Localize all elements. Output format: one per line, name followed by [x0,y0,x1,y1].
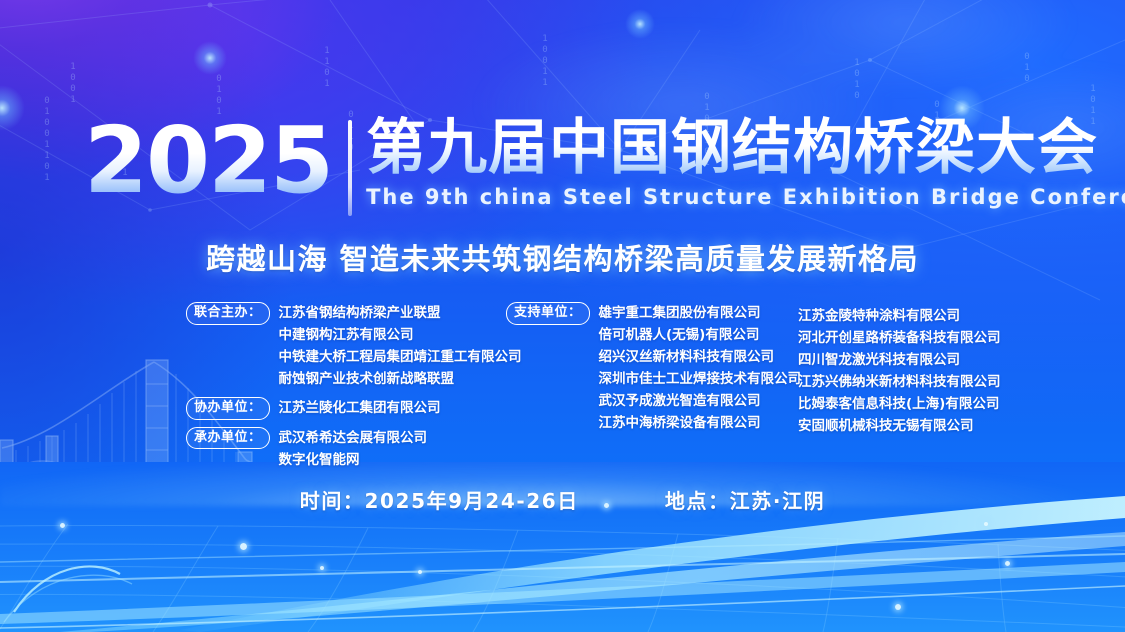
org-item: 数字化智能网 [279,449,428,471]
credits-column-middle: 支持单位： 雄宇重工集团股份有限公司 倍可机器人(无锡)有限公司 绍兴汉丝新材料… [506,302,798,441]
label-cohost: 联合主办： [186,302,270,325]
event-location: 地点：江苏·江阴 [665,485,825,514]
title-block: 第九届中国钢结构桥梁大会 The 9th china Steel Structu… [366,116,1125,209]
org-item: 江苏中海桥梁设备有限公司 [599,412,802,434]
org-item: 雄宇重工集团股份有限公司 [599,302,802,324]
title-row: 2025 第九届中国钢结构桥梁大会 The 9th china Steel St… [84,116,1125,216]
org-list-coorganizer: 江苏兰陵化工集团有限公司 [270,397,441,419]
label-undertaker: 承办单位： [186,427,270,450]
org-item: 江苏兰陵化工集团有限公司 [279,397,441,419]
org-item: 武汉希希达会展有限公司 [279,427,428,449]
title-chinese: 第九届中国钢结构桥梁大会 [366,116,1125,181]
org-item: 倍可机器人(无锡)有限公司 [599,324,802,346]
title-divider [348,120,352,216]
credits-section: 联合主办： 江苏省钢结构桥梁产业联盟 中建钢构江苏有限公司 中铁建大桥工程局集团… [186,302,1046,478]
org-item: 比姆泰客信息科技(上海)有限公司 [798,393,1028,415]
credit-group-cohost: 联合主办： 江苏省钢结构桥梁产业联盟 中建钢构江苏有限公司 中铁建大桥工程局集团… [186,302,506,390]
org-item: 中建钢构江苏有限公司 [279,324,522,346]
event-date: 时间：2025年9月24-26日 [300,485,579,514]
org-item: 耐蚀钢产业技术创新战略联盟 [279,368,522,390]
credits-column-right: 江苏金陵特种涂料有限公司 河北开创星路桥装备科技有限公司 四川智龙激光科技有限公… [798,302,1028,437]
credit-group-undertaker: 承办单位： 武汉希希达会展有限公司 数字化智能网 [186,427,506,471]
conference-banner: 01001101 1001 010110 0101 1101 0110 1001… [0,0,1125,632]
org-item: 四川智龙激光科技有限公司 [798,349,1028,371]
org-item: 中铁建大桥工程局集团靖江重工有限公司 [279,346,522,368]
org-item: 江苏金陵特种涂料有限公司 [798,305,1028,327]
org-list-undertaker: 武汉希希达会展有限公司 数字化智能网 [270,427,428,471]
credits-column-left: 联合主办： 江苏省钢结构桥梁产业联盟 中建钢构江苏有限公司 中铁建大桥工程局集团… [186,302,506,478]
title-english: The 9th china Steel Structure Exhibition… [366,185,1125,209]
credit-group-coorganizer: 协办单位： 江苏兰陵化工集团有限公司 [186,397,506,420]
org-item: 绍兴汉丝新材料科技有限公司 [599,346,802,368]
org-item: 河北开创星路桥装备科技有限公司 [798,327,1028,349]
label-supporter: 支持单位： [506,302,590,325]
event-footer: 时间：2025年9月24-26日 地点：江苏·江阴 [0,485,1125,514]
org-item: 安固顺机械科技无锡有限公司 [798,415,1028,437]
year-text: 2025 [84,116,346,205]
credit-group-supporter: 支持单位： 雄宇重工集团股份有限公司 倍可机器人(无锡)有限公司 绍兴汉丝新材料… [506,302,798,434]
org-item: 深圳市佳士工业焊接技术有限公司 [599,368,802,390]
org-item: 武汉予成激光智造有限公司 [599,390,802,412]
banner-content: 2025 第九届中国钢结构桥梁大会 The 9th china Steel St… [0,0,1125,632]
label-coorganizer: 协办单位： [186,397,270,420]
org-item: 江苏兴佛纳米新材料科技有限公司 [798,371,1028,393]
org-item: 江苏省钢结构桥梁产业联盟 [279,302,522,324]
org-list-cohost: 江苏省钢结构桥梁产业联盟 中建钢构江苏有限公司 中铁建大桥工程局集团靖江重工有限… [270,302,522,390]
org-list-supporter: 雄宇重工集团股份有限公司 倍可机器人(无锡)有限公司 绍兴汉丝新材料科技有限公司… [590,302,802,434]
subtitle-slogan: 跨越山海 智造未来共筑钢结构桥梁高质量发展新格局 [0,236,1125,278]
